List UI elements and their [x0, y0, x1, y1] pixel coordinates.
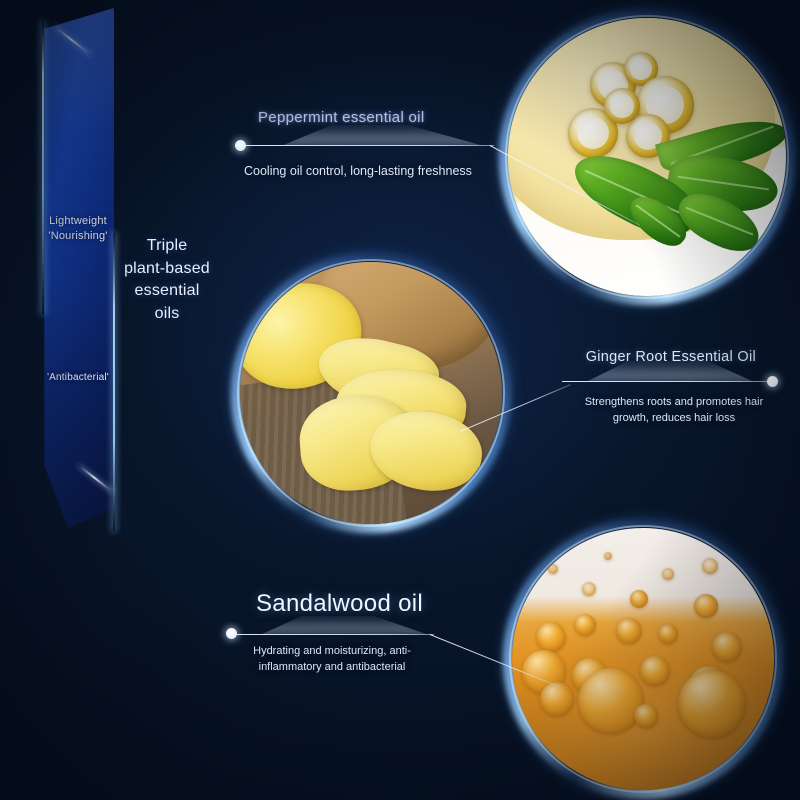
callout-title: Ginger Root Essential Oil [586, 349, 756, 365]
callout-description: Cooling oil control, long-lasting freshn… [244, 163, 504, 181]
callout-title: Sandalwood oil [256, 590, 423, 618]
callout-line [562, 381, 768, 382]
callout-description: Strengthens roots and promotes hair grow… [576, 395, 772, 426]
callout-dot [235, 140, 246, 151]
panel-label-antibacterial: 'Antibacterial' [18, 371, 138, 385]
product-feature-poster: Lightweight 'Nourishing' 'Antibacterial'… [0, 0, 800, 800]
sandalwood-photo [512, 528, 774, 790]
callout-line [232, 634, 434, 635]
headline-line-4: oils [108, 303, 226, 326]
callout-description: Hydrating and moisturizing, anti-inflamm… [226, 644, 438, 675]
callout-glow [250, 125, 490, 145]
sandalwood-image-circle [512, 528, 774, 790]
callout-line [244, 145, 494, 146]
panel-edge-highlight-left [42, 22, 44, 314]
ginger-photo [240, 262, 502, 524]
callout-glow [238, 616, 438, 634]
peppermint-image-circle [508, 18, 786, 296]
page-title: Triple plant-based essential oils [108, 235, 226, 326]
headline-line-1: Triple [108, 235, 226, 258]
panel-label-line1: Lightweight [18, 214, 138, 229]
callout-title: Peppermint essential oil [258, 109, 424, 126]
headline-line-3: essential [108, 280, 226, 303]
callout-dot [226, 628, 237, 639]
ginger-image-circle [240, 262, 502, 524]
headline-line-2: plant-based [108, 258, 226, 281]
peppermint-photo [508, 18, 786, 296]
callout-dot [767, 376, 778, 387]
